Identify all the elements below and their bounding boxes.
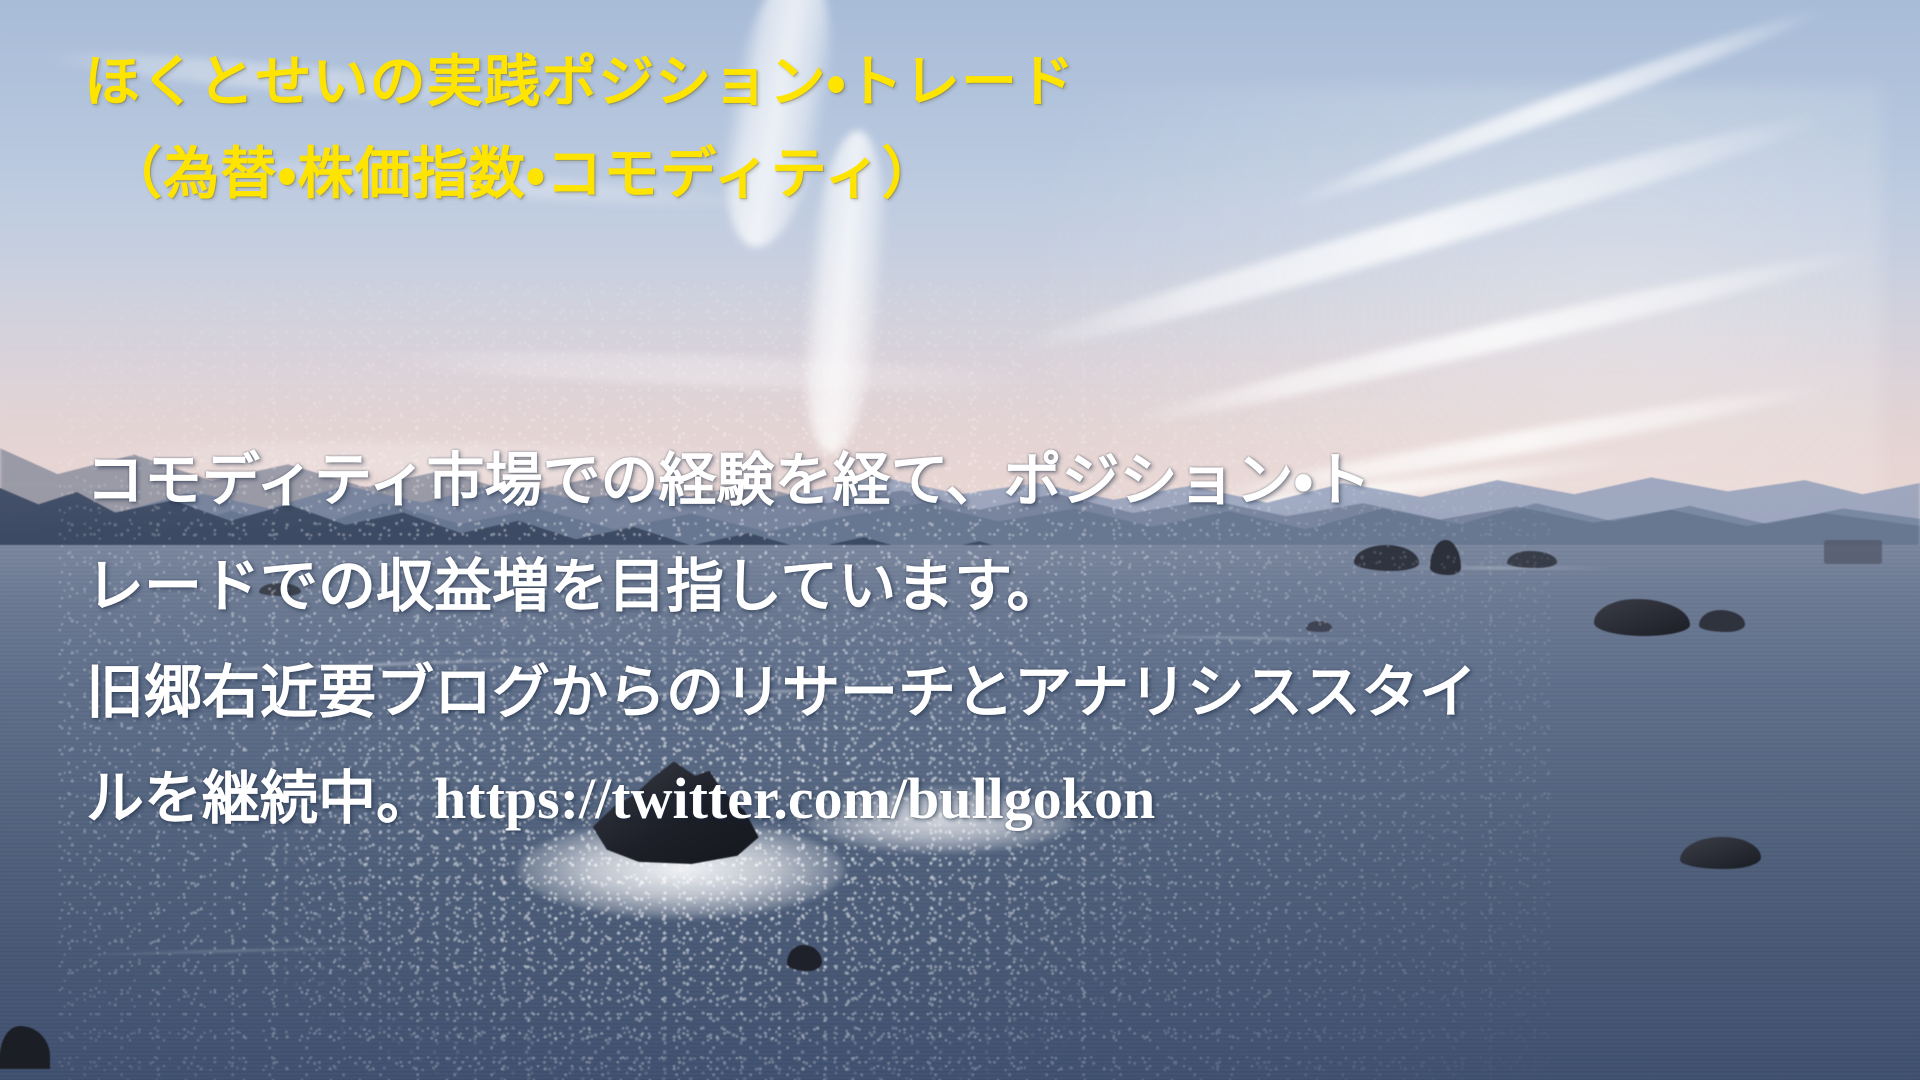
body-line-4-prefix: ルを継続中。: [86, 766, 434, 831]
title-block: ほくとせいの実践ポジション・トレード （為替・株価指数・コモディティ）: [84, 54, 1484, 202]
twitter-profile-link[interactable]: https://twitter.com/bullgokon: [434, 766, 1155, 831]
title-line-2: （為替・株価指数・コモディティ）: [106, 146, 1484, 202]
body-line-1: コモディティ市場での経験を経て、ポジション・ト: [86, 452, 1726, 510]
banner-card: ほくとせいの実践ポジション・トレード （為替・株価指数・コモディティ） コモディ…: [0, 0, 1920, 1080]
body-line-3: 旧郷右近要ブログからのリサーチとアナリシススタイ: [86, 664, 1726, 722]
text-overlay: ほくとせいの実践ポジション・トレード （為替・株価指数・コモディティ） コモディ…: [0, 0, 1920, 1080]
body-block: コモディティ市場での経験を経て、ポジション・ト レードでの収益増を目指しています…: [86, 452, 1726, 828]
body-line-4: ルを継続中。https://twitter.com/bullgokon: [86, 770, 1726, 828]
title-line-1: ほくとせいの実践ポジション・トレード: [84, 54, 1484, 110]
body-line-2: レードでの収益増を目指しています。: [86, 558, 1726, 616]
